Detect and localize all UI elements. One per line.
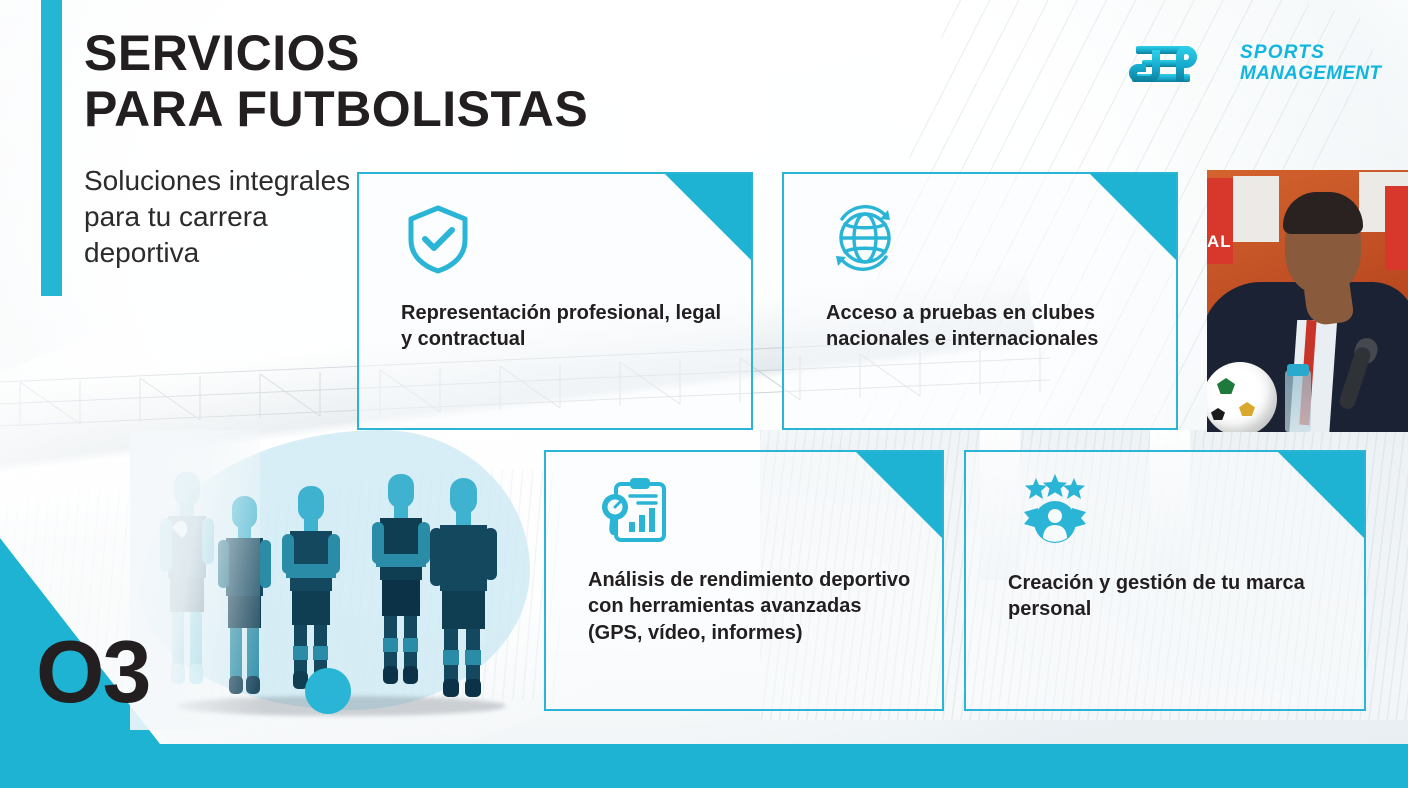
photo-bottle-cap <box>1287 364 1309 376</box>
page-subtitle: Soluciones integrales para tu carrera de… <box>84 163 374 270</box>
bottom-cyan-band <box>0 744 1408 788</box>
card-representacion[interactable]: Representación profesional, legal y cont… <box>357 172 753 430</box>
card-label: Análisis de rendimiento deportivo con he… <box>588 567 916 646</box>
backdrop-panel <box>1233 176 1279 242</box>
card-marca-personal[interactable]: Creación y gestión de tu marca personal <box>964 450 1366 711</box>
logo-wordmark: SPORTS MANAGEMENT <box>1240 42 1381 85</box>
card-label: Creación y gestión de tu marca personal <box>1008 570 1338 623</box>
football-panel <box>1217 378 1235 394</box>
title-accent-bar <box>41 0 62 296</box>
clipboard-chart-stopwatch-icon <box>598 474 672 548</box>
football-panel <box>1239 402 1255 416</box>
person-stars-badge-icon <box>1018 474 1092 548</box>
photo-football <box>1207 362 1277 432</box>
football-panel <box>1211 408 1225 420</box>
clipboard-chart-svg <box>598 474 672 548</box>
backdrop-text: AL <box>1207 232 1232 252</box>
page-title: SERVICIOS PARA FUTBOLISTAS <box>84 25 864 137</box>
title-line-2: PARA FUTBOLISTAS <box>84 81 864 137</box>
shield-check-icon <box>401 202 475 276</box>
person-stars-badge-svg <box>1018 474 1092 548</box>
card-label: Representación profesional, legal y cont… <box>401 300 725 353</box>
slide-root: SERVICIOS PARA FUTBOLISTAS Soluciones in… <box>0 0 1408 788</box>
brand-logo: SPORTS MANAGEMENT <box>1122 36 1382 98</box>
globe-arrows-svg <box>826 202 900 276</box>
logo-line-2: MANAGEMENT <box>1240 63 1381 84</box>
card-label: Acceso a pruebas en clubes nacionales e … <box>826 300 1150 353</box>
card-corner-notch <box>1278 452 1364 538</box>
jep-monogram-svg <box>1122 36 1222 92</box>
card-analisis-rendimiento[interactable]: Análisis de rendimiento deportivo con he… <box>544 450 944 711</box>
football-illustration <box>305 668 351 714</box>
card-corner-notch <box>1090 174 1176 260</box>
players-left-fade <box>130 430 260 730</box>
card-acceso-pruebas[interactable]: Acceso a pruebas en clubes nacionales e … <box>782 172 1178 430</box>
card-corner-notch <box>856 452 942 538</box>
title-line-1: SERVICIOS <box>84 25 360 81</box>
logo-line-1: SPORTS <box>1240 42 1381 63</box>
backdrop-red-box <box>1385 186 1408 270</box>
photo-water-bottle <box>1285 370 1311 432</box>
globe-arrows-icon <box>826 202 900 276</box>
speaker-photo: AL <box>1207 170 1408 432</box>
shield-check-svg <box>401 202 475 276</box>
card-corner-notch <box>665 174 751 260</box>
jep-monogram-icon <box>1122 36 1222 92</box>
slide-number: O3 <box>36 628 149 716</box>
